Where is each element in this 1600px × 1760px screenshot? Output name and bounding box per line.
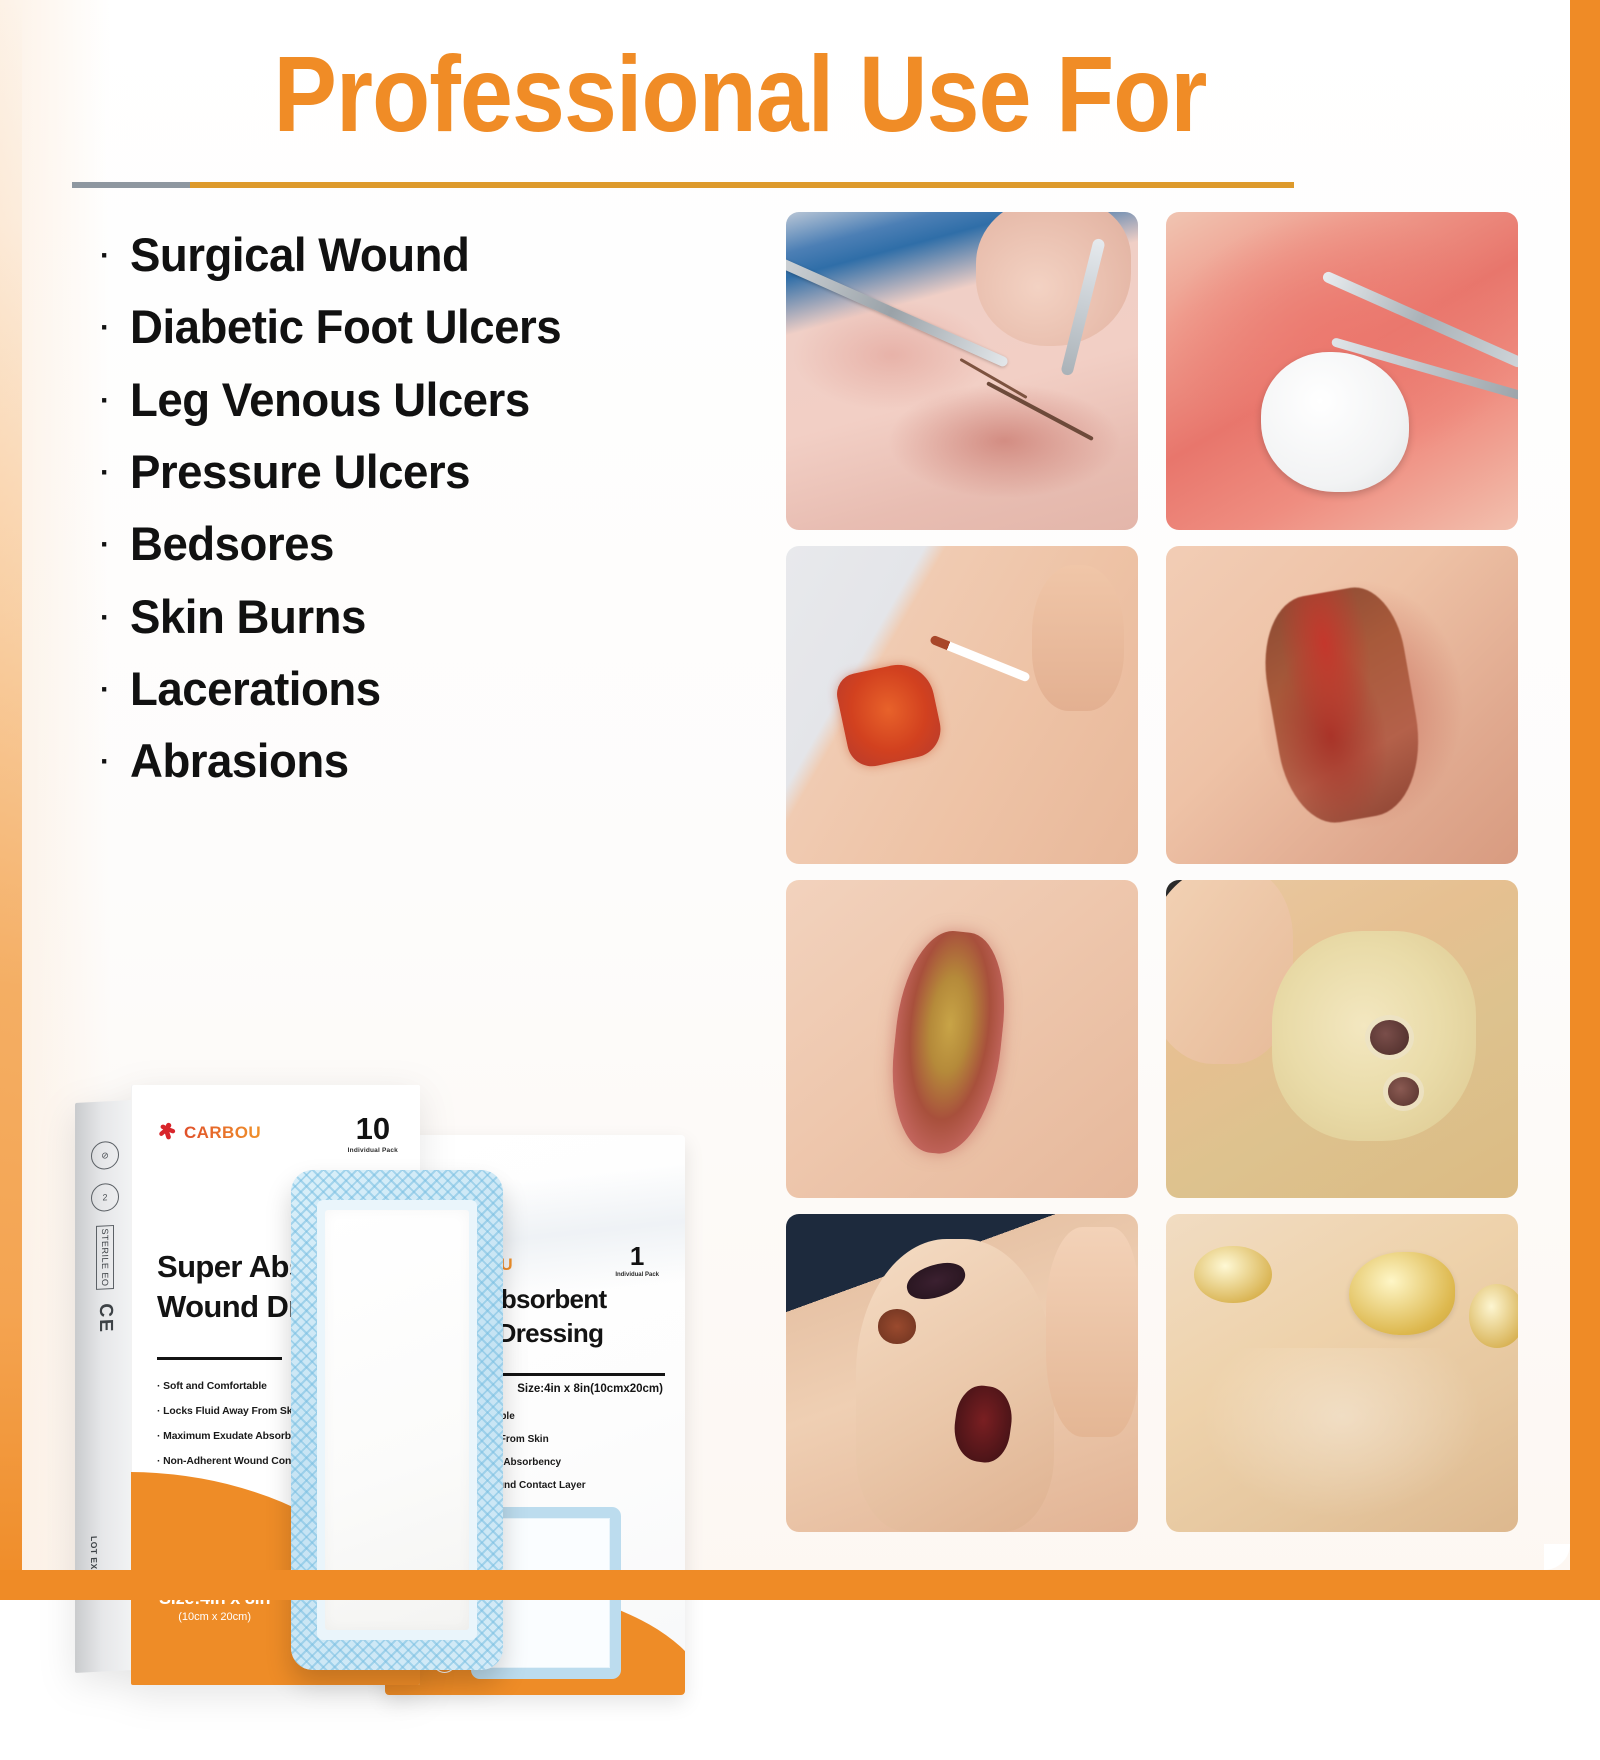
list-item-label: Bedsores	[130, 519, 334, 568]
dressing-pad	[291, 1170, 503, 1670]
list-item: · Abrasions	[100, 736, 760, 785]
photo-burn-blisters: Skin burn with fluid-filled blisters	[1166, 1214, 1518, 1532]
blister-shape	[1469, 1284, 1518, 1348]
box-count-number: 10	[348, 1113, 398, 1144]
blister-shape	[1349, 1252, 1455, 1335]
bullet-icon: ·	[100, 241, 130, 271]
blister-shape	[1194, 1246, 1271, 1303]
wound-shape	[833, 658, 946, 771]
pouch-count-number: 1	[615, 1243, 659, 1269]
box-count-badge: 10 Individual Pack	[348, 1113, 398, 1154]
indications-list: · Surgical Wound · Diabetic Foot Ulcers …	[100, 230, 760, 809]
list-item-label: Leg Venous Ulcers	[130, 375, 530, 424]
sterile-label: STERILE EO	[96, 1225, 114, 1290]
product-shot: CARBOU 1 Individual Pack Super Absorbent…	[55, 1070, 770, 1760]
exp-label: EXP	[89, 1557, 99, 1576]
list-item-label: Skin Burns	[130, 592, 366, 641]
bullet-icon: ·	[100, 603, 130, 633]
scab-shape	[878, 1309, 917, 1344]
bullet-icon: ·	[100, 458, 130, 488]
bullet-icon: ·	[100, 386, 130, 416]
box-side-panel: ⊘ 2 STERILE EO CE LOT EXP	[75, 1100, 135, 1673]
box-brand-name: CARBOU	[184, 1123, 261, 1143]
hand-shape	[1046, 1227, 1138, 1437]
photo-surgical-suture-removal: Surgical wound suture removal with force…	[786, 212, 1138, 530]
left-column: · Surgical Wound · Diabetic Foot Ulcers …	[0, 210, 770, 1600]
list-item: · Skin Burns	[100, 592, 760, 641]
bullet-icon: ·	[100, 675, 130, 705]
abrasion-shape	[1253, 580, 1431, 830]
divider-orange-segment	[190, 182, 1294, 188]
hand-shape	[976, 212, 1131, 346]
ulcer-crater	[1388, 1077, 1420, 1106]
photo-diabetic-foot-ulcer: Diabetic foot ulcer on the sole with cal…	[1166, 880, 1518, 1198]
pouch-size-label: Size:4in x 8in(10cmx20cm)	[517, 1383, 663, 1395]
list-item: · Leg Venous Ulcers	[100, 375, 760, 424]
list-item: · Diabetic Foot Ulcers	[100, 302, 760, 351]
header: Professional Use For	[0, 0, 1600, 210]
page-title: Professional Use For	[89, 40, 1391, 148]
ce-mark-icon: CE	[94, 1303, 116, 1335]
box-size-main: Size:4in x 8in	[159, 1588, 270, 1609]
box-brand-logo: CARBOU	[157, 1121, 261, 1144]
carbou-cross-icon	[157, 1121, 180, 1144]
pouch-count-sublabel: Individual Pack	[615, 1272, 659, 1278]
photo-gauze-on-burn: Forceps applying gauze dressing to a red…	[1166, 212, 1518, 530]
box-size-metric: (10cm x 20cm)	[159, 1611, 270, 1623]
skin-sheen	[1201, 1348, 1483, 1520]
bullet-icon: ·	[100, 530, 130, 560]
list-item: · Bedsores	[100, 519, 760, 568]
finger-shape	[1032, 565, 1124, 711]
list-item-label: Abrasions	[130, 736, 349, 785]
box-side-symbols: ⊘ 2 STERILE EO CE	[83, 1140, 127, 1542]
list-item: · Pressure Ulcers	[100, 447, 760, 496]
box-size-block: Size:4in x 8in (10cm x 20cm)	[159, 1588, 270, 1623]
photo-open-ulcer: Open leg ulcer with slough and exudate	[786, 880, 1138, 1198]
divider-gray-segment	[72, 182, 190, 188]
list-item-label: Diabetic Foot Ulcers	[130, 302, 561, 351]
list-item-label: Surgical Wound	[130, 230, 469, 279]
lot-label: LOT	[89, 1536, 99, 1555]
no-reuse-icon: ⊘	[91, 1141, 119, 1170]
cotton-swab-shape	[929, 635, 1030, 683]
photo-knee-scabs: Scabbed knee lacerations and abrasions	[786, 1214, 1138, 1532]
list-item-label: Pressure Ulcers	[130, 447, 470, 496]
box-count-sublabel: Individual Pack	[348, 1147, 398, 1154]
photo-grid: Surgical wound suture removal with force…	[786, 212, 1518, 1534]
suture-line	[986, 381, 1094, 441]
box-lot-exp-label: LOT EXP	[87, 1536, 100, 1577]
list-item-label: Lacerations	[130, 664, 381, 713]
list-item: · Lacerations	[100, 664, 760, 713]
single-use-icon: 2	[91, 1183, 119, 1212]
box-rule	[157, 1357, 282, 1360]
suture-line	[959, 358, 1028, 399]
pouch-count-badge: 1 Individual Pack	[615, 1243, 659, 1278]
gauze-shape	[1261, 352, 1409, 492]
ulcer-crater	[1370, 1020, 1409, 1055]
photo-fresh-graze: Fresh bleeding abrasion on skin	[1166, 546, 1518, 864]
bullet-icon: ·	[100, 747, 130, 777]
pad-absorbent-core	[325, 1210, 469, 1630]
photo-antiseptic-swab: Cotton swab applying antiseptic to an ab…	[786, 546, 1138, 864]
list-item: · Surgical Wound	[100, 230, 760, 279]
bullet-icon: ·	[100, 313, 130, 343]
title-divider	[72, 182, 1294, 188]
